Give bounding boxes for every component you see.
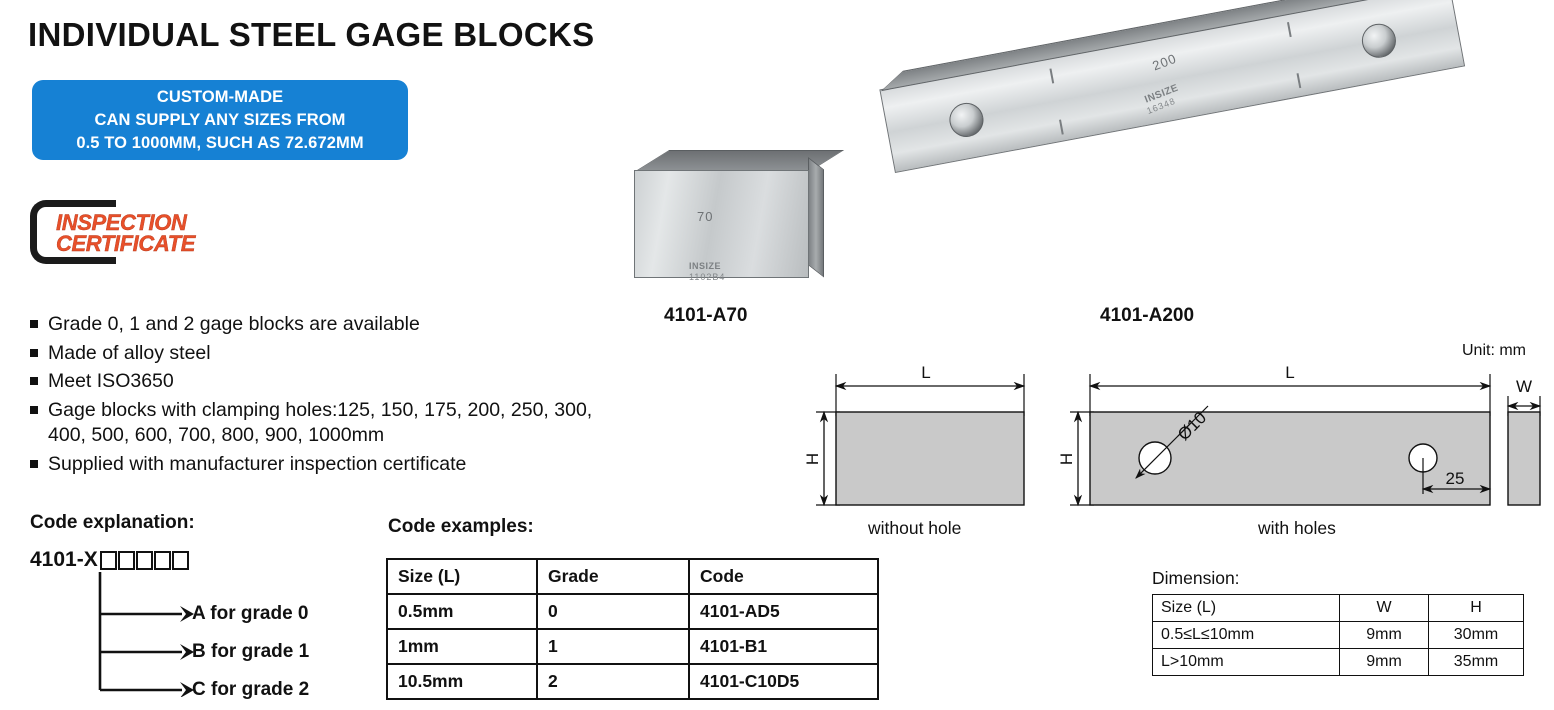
code-pattern: 4101-X	[30, 548, 190, 572]
code-box	[100, 551, 117, 570]
product-caption-a70: 4101-A70	[664, 305, 747, 327]
dimension-table-title: Dimension:	[1152, 568, 1240, 589]
square-bullet-icon	[30, 377, 38, 385]
code-box	[172, 551, 189, 570]
clamping-hole-right	[1359, 21, 1399, 61]
list-item: Gage blocks with clamping holes:125, 150…	[30, 398, 630, 449]
drawing-caption-with-holes: with holes	[1258, 518, 1336, 539]
table-row: 0.5mm 0 4101-AD5	[387, 594, 878, 629]
grade-arrow-label-b: B for grade 1	[192, 641, 309, 663]
code-box	[136, 551, 153, 570]
product-photo-gage-block-200: 200 INSIZE 16348	[895, 88, 1495, 298]
code-box	[154, 551, 171, 570]
cell-size-range: 0.5≤L≤10mm	[1153, 622, 1340, 649]
inspection-logo-line-2: CERTIFICATE	[56, 233, 195, 254]
gage-bar-face: 200 INSIZE 16348	[879, 0, 1465, 173]
cell-w: 9mm	[1340, 649, 1429, 676]
cell-size: 0.5mm	[387, 594, 537, 629]
dimension-label-edge-distance: 25	[1446, 469, 1465, 488]
list-item: Grade 0, 1 and 2 gage blocks are availab…	[30, 312, 630, 338]
engraved-brand-label: INSIZE	[689, 261, 721, 271]
list-item: Made of alloy steel	[30, 341, 630, 367]
clamping-hole-left	[947, 100, 987, 140]
tick-mark	[1287, 22, 1292, 37]
cell-grade: 1	[537, 629, 689, 664]
tick-mark	[1059, 120, 1064, 135]
tick-mark	[1297, 73, 1302, 88]
gage-block-face: 70 INSIZE 1102B4	[634, 170, 809, 278]
page-title: INDIVIDUAL STEEL GAGE BLOCKS	[28, 16, 594, 54]
feature-text: Made of alloy steel	[48, 341, 630, 367]
code-explanation-title: Code explanation:	[30, 512, 195, 534]
dimension-label-H-left: H	[803, 453, 822, 465]
cell-code: 4101-C10D5	[689, 664, 878, 699]
unit-label: Unit: mm	[1462, 342, 1526, 360]
column-header-h: H	[1429, 595, 1524, 622]
table-row: 10.5mm 2 4101-C10D5	[387, 664, 878, 699]
cell-h: 35mm	[1429, 649, 1524, 676]
cell-code: 4101-AD5	[689, 594, 878, 629]
code-box	[118, 551, 135, 570]
feature-text: Grade 0, 1 and 2 gage blocks are availab…	[48, 312, 630, 338]
drawings-svg: L L W H H Ø10 25	[800, 360, 1554, 520]
code-examples-table: Size (L) Grade Code 0.5mm 0 4101-AD5 1mm…	[386, 558, 879, 700]
feature-text: Meet ISO3650	[48, 369, 630, 395]
product-caption-a200: 4101-A200	[1100, 305, 1194, 327]
catalog-page: INDIVIDUAL STEEL GAGE BLOCKS CUSTOM-MADE…	[0, 0, 1554, 710]
grade-arrow-label-c: C for grade 2	[192, 679, 309, 701]
cell-size: 10.5mm	[387, 664, 537, 699]
custom-badge-line-3: 0.5 TO 1000MM, SUCH AS 72.672MM	[76, 132, 363, 155]
table-row: L>10mm 9mm 35mm	[1153, 649, 1524, 676]
table-header-row: Size (L) W H	[1153, 595, 1524, 622]
square-bullet-icon	[30, 349, 38, 357]
code-pattern-boxes	[100, 551, 190, 570]
grade-arrow-label-a: A for grade 0	[192, 603, 309, 625]
custom-made-badge: CUSTOM-MADE CAN SUPPLY ANY SIZES FROM 0.…	[32, 80, 408, 160]
square-bullet-icon	[30, 320, 38, 328]
engraved-size-label: 70	[697, 209, 713, 224]
code-pattern-prefix: 4101-X	[30, 548, 98, 572]
column-header-grade: Grade	[537, 559, 689, 594]
column-header-size: Size (L)	[1153, 595, 1340, 622]
cell-size-range: L>10mm	[1153, 649, 1340, 676]
feature-text: Gage blocks with clamping holes:125, 150…	[48, 398, 630, 449]
code-examples-title: Code examples:	[388, 516, 534, 538]
product-photo-gage-block-70: 70 INSIZE 1102B4	[634, 150, 834, 280]
technical-drawings: L L W H H Ø10 25	[800, 360, 1554, 525]
gage-block-right-edge	[808, 157, 824, 278]
engraved-serial-label: 1102B4	[689, 272, 725, 282]
square-bullet-icon	[30, 406, 38, 414]
feature-text: Supplied with manufacturer inspection ce…	[48, 452, 630, 478]
cell-grade: 0	[537, 594, 689, 629]
cell-code: 4101-B1	[689, 629, 878, 664]
column-header-size: Size (L)	[387, 559, 537, 594]
inspection-logo-line-1: INSPECTION	[56, 212, 195, 233]
engraved-size-label: 200	[1150, 51, 1178, 74]
drawing-caption-without-hole: without hole	[868, 518, 961, 539]
column-header-code: Code	[689, 559, 878, 594]
dimension-label-H-right: H	[1057, 453, 1076, 465]
tick-mark	[1049, 68, 1054, 83]
code-explanation-arrows: A for grade 0 B for grade 1 C for grade …	[30, 572, 360, 697]
custom-badge-line-2: CAN SUPPLY ANY SIZES FROM	[95, 109, 346, 132]
dimension-label-L-right: L	[1285, 363, 1294, 382]
table-row: 0.5≤L≤10mm 9mm 30mm	[1153, 622, 1524, 649]
table-row: 1mm 1 4101-B1	[387, 629, 878, 664]
custom-badge-line-1: CUSTOM-MADE	[157, 86, 283, 109]
list-item: Meet ISO3650	[30, 369, 630, 395]
dimension-table: Size (L) W H 0.5≤L≤10mm 9mm 30mm L>10mm …	[1152, 594, 1524, 676]
square-bullet-icon	[30, 460, 38, 468]
table-header-row: Size (L) Grade Code	[387, 559, 878, 594]
cell-w: 9mm	[1340, 622, 1429, 649]
column-header-w: W	[1340, 595, 1429, 622]
feature-list: Grade 0, 1 and 2 gage blocks are availab…	[30, 312, 630, 480]
cell-grade: 2	[537, 664, 689, 699]
dimension-label-L-left: L	[921, 363, 930, 382]
dimension-label-W: W	[1516, 377, 1532, 396]
cell-h: 30mm	[1429, 622, 1524, 649]
inspection-certificate-logo: INSPECTION CERTIFICATE	[28, 198, 258, 270]
list-item: Supplied with manufacturer inspection ce…	[30, 452, 630, 478]
inspection-certificate-wordmark: INSPECTION CERTIFICATE	[56, 212, 195, 254]
cell-size: 1mm	[387, 629, 537, 664]
